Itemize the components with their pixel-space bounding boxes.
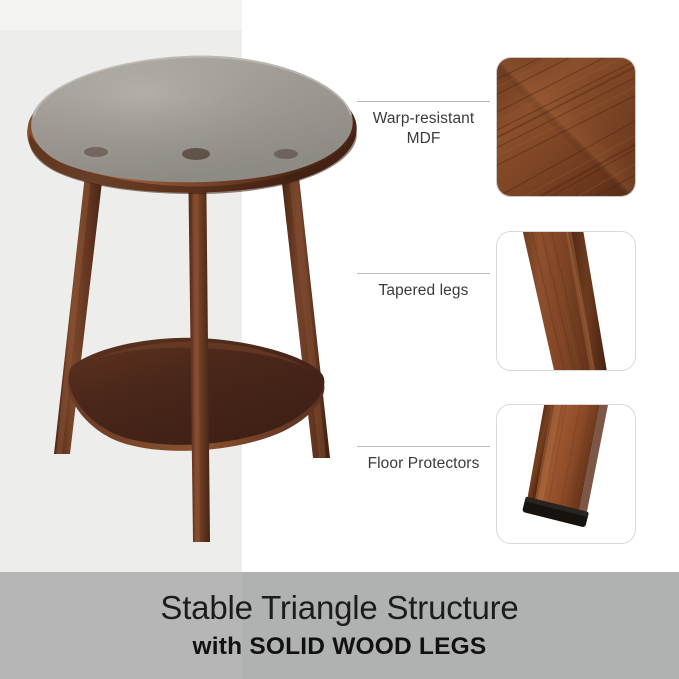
table-top: [27, 56, 357, 194]
callout-warp-resistant-mdf: Warp-resistant MDF: [357, 101, 490, 149]
callout-tapered-legs: Tapered legs: [357, 273, 490, 301]
banner-subheadline-strong: SOLID WOOD LEGS: [249, 633, 486, 660]
product-image: [10, 30, 370, 560]
detail-panel-floor-protector: [496, 404, 636, 544]
callout-label-line1: Tapered legs: [357, 281, 490, 301]
background-left-highlight: [0, 0, 242, 30]
detail-panel-wood-grain: [496, 57, 636, 197]
callout-leader-line: [357, 101, 490, 102]
callout-leader-line: [357, 273, 490, 274]
table-leg-center: [188, 150, 210, 542]
callout-label-line1: Warp-resistant: [357, 109, 490, 129]
callout-floor-protectors: Floor Protectors: [357, 446, 490, 474]
banner-headline: Stable Triangle Structure: [160, 591, 518, 624]
callout-label-line1: Floor Protectors: [357, 454, 490, 474]
callout-leader-line: [357, 446, 490, 447]
banner-subheadline: with SOLID WOOD LEGS: [193, 635, 487, 660]
detail-panel-tapered-leg: [496, 231, 636, 371]
bottom-banner: Stable Triangle Structure with SOLID WOO…: [0, 572, 679, 679]
product-infographic: Warp-resistant MDF Tapered legs Floor Pr…: [0, 0, 679, 679]
callout-label-line2: MDF: [357, 129, 490, 149]
banner-subheadline-lead: with: [193, 633, 250, 660]
